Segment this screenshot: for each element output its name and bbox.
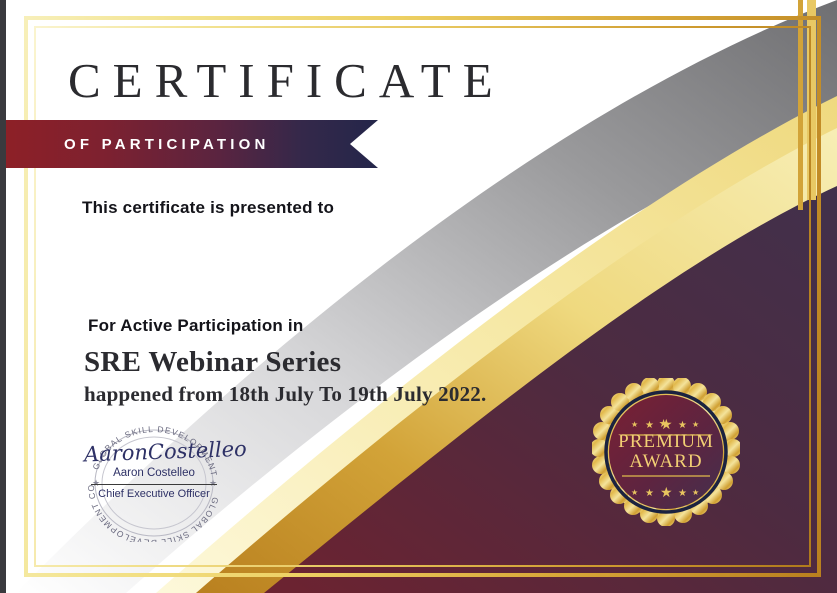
course-name: SRE Webinar Series: [84, 346, 341, 379]
award-badge: ★ ★ ★ ★ ★ ★ ★ ★ ★ ★ ★ PREMIUM AWARD: [592, 378, 740, 526]
svg-text:★: ★: [692, 420, 699, 429]
svg-text:★: ★: [645, 420, 654, 431]
subtitle-ribbon: OF PARTICIPATION: [6, 120, 378, 168]
signature-name: Aaron Costelleo: [78, 467, 230, 479]
signature-role: Chief Executive Officer: [78, 488, 230, 500]
signature-rule: [91, 484, 217, 485]
certificate-canvas: CERTIFICATE OF PARTICIPATION This certif…: [0, 0, 837, 593]
svg-text:★: ★: [692, 488, 699, 497]
svg-text:★: ★: [678, 488, 687, 499]
svg-text:★: ★: [678, 420, 687, 431]
svg-text:★: ★: [631, 488, 638, 497]
signature-seal: GLOBAL SKILL DEVELOPMENT COUNCIL GLOBAL …: [78, 424, 230, 542]
page-title: CERTIFICATE: [68, 52, 505, 109]
for-participation-line: For Active Participation in: [88, 316, 303, 336]
svg-text:★: ★: [660, 485, 673, 501]
svg-text:★: ★: [631, 420, 638, 429]
dates-line: happened from 18th July To 19th July 202…: [84, 382, 486, 407]
presented-to-line: This certificate is presented to: [82, 198, 334, 218]
signature-script: AaronCostelleo: [84, 438, 225, 467]
certificate-sheet: CERTIFICATE OF PARTICIPATION This certif…: [6, 0, 837, 593]
svg-text:★: ★: [645, 488, 654, 499]
award-badge-svg: ★ ★ ★ ★ ★ ★ ★ ★ ★ ★ ★: [592, 378, 740, 526]
svg-text:★: ★: [660, 417, 673, 433]
seal-star-left: ★: [92, 478, 100, 488]
seal-star-right: ★: [209, 478, 217, 488]
subtitle-ribbon-label: OF PARTICIPATION: [64, 120, 270, 168]
